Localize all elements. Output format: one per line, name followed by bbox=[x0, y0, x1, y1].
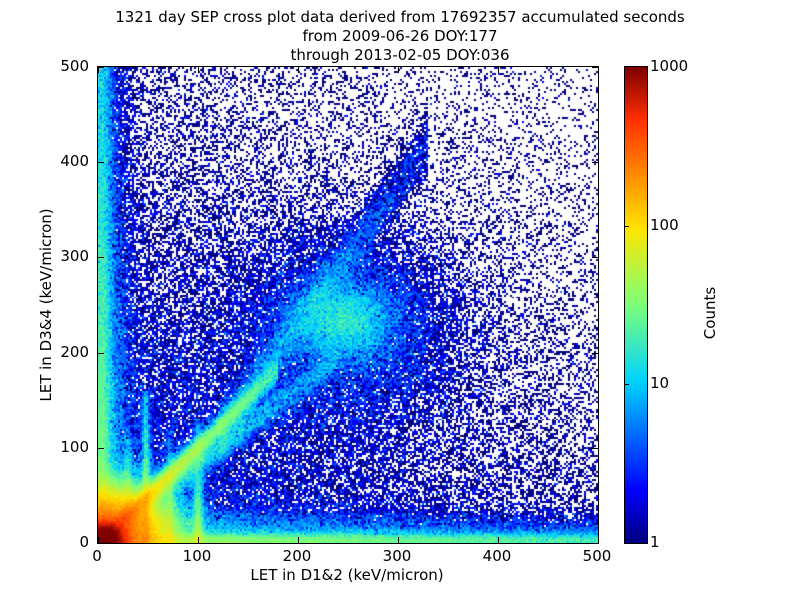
y-tick-label: 0 bbox=[79, 533, 89, 551]
x-tick-label: 400 bbox=[483, 547, 512, 565]
x-tick-label: 300 bbox=[383, 547, 412, 565]
colorbar-tick-label: 10 bbox=[650, 374, 669, 392]
y-tick-label: 300 bbox=[60, 247, 89, 265]
x-tick-label: 200 bbox=[283, 547, 312, 565]
plot-axes bbox=[97, 66, 599, 544]
colorbar-tick-label: 1000 bbox=[650, 57, 688, 75]
title-line-1: 1321 day SEP cross plot data derived fro… bbox=[0, 8, 800, 27]
colorbar-label: Counts bbox=[701, 213, 719, 413]
x-tick-label: 100 bbox=[183, 547, 212, 565]
density-heatmap bbox=[98, 67, 598, 543]
y-axis-label: LET in D3&4 (keV/micron) bbox=[37, 165, 55, 445]
x-tick-label: 0 bbox=[92, 547, 102, 565]
y-tick-label: 200 bbox=[60, 343, 89, 361]
colorbar-tick-label: 100 bbox=[650, 216, 679, 234]
colorbar bbox=[624, 66, 648, 544]
title-line-2: from 2009-06-26 DOY:177 bbox=[0, 27, 800, 46]
figure-canvas: 1321 day SEP cross plot data derived fro… bbox=[0, 0, 800, 600]
colorbar-tick-label: 1 bbox=[650, 533, 660, 551]
x-axis-label: LET in D1&2 (keV/micron) bbox=[97, 566, 597, 584]
x-tick-label: 500 bbox=[583, 547, 612, 565]
colorbar-gradient bbox=[625, 67, 647, 543]
y-tick-label: 400 bbox=[60, 152, 89, 170]
y-tick-label: 100 bbox=[60, 438, 89, 456]
y-tick-label: 500 bbox=[60, 57, 89, 75]
